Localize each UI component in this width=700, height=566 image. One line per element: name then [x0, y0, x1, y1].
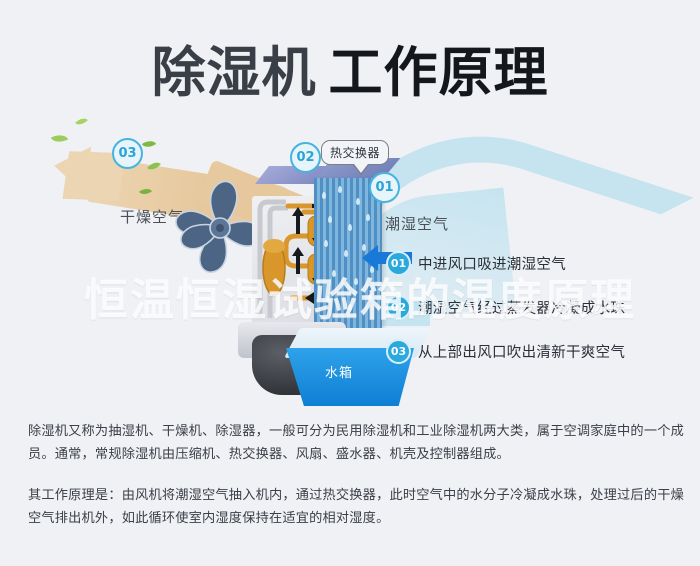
diagram-marker-02: 02 [290, 142, 321, 173]
paragraph-2: 其工作原理是：由风机将潮湿空气抽入机内，通过热交换器，此时空气中的水分子冷凝成水… [28, 484, 688, 530]
water-tank-label: 水箱 [325, 362, 353, 381]
step-text: 从上部出风口吹出清新干爽空气 [418, 341, 625, 362]
page-title: 除湿机工作原理 [0, 28, 700, 107]
page-title-part-2: 工作原理 [329, 41, 549, 104]
step-badge: 01 [388, 253, 409, 274]
step-list: 01 中进风口吸进潮湿空气 02 潮湿空气经过蒸发器冷凝成水珠 03 从上部出风… [388, 252, 688, 384]
leaf-icon [142, 137, 156, 150]
heat-exchanger-callout: 热交换器 [321, 140, 389, 165]
diagram-marker-01: 01 [369, 172, 400, 203]
page-title-part-1: 除湿机 [152, 41, 317, 104]
step-badge: 02 [388, 297, 409, 318]
list-item: 01 中进风口吸进潮湿空气 [388, 252, 688, 274]
step-text: 潮湿空气经过蒸发器冷凝成水珠 [418, 297, 625, 318]
body-copy: 除湿机又称为抽湿机、干燥机、除湿器，一般可分为民用除湿机和工业除湿机两大类，属于… [28, 420, 688, 548]
step-text: 中进风口吸进潮湿空气 [418, 253, 566, 274]
diagram-marker-03: 03 [112, 138, 143, 169]
list-item: 02 潮湿空气经过蒸发器冷凝成水珠 [388, 296, 688, 318]
leaf-icon [75, 115, 88, 128]
step-badge: 03 [388, 341, 409, 362]
paragraph-1: 除湿机又称为抽湿机、干燥机、除湿器，一般可分为民用除湿机和工业除湿机两大类，属于… [28, 420, 688, 466]
list-item: 03 从上部出风口吹出清新干爽空气 [388, 340, 688, 362]
infographic-page: 除湿机工作原理 干燥空气 潮湿空气 [0, 0, 700, 566]
dry-air-arrow-head [51, 142, 91, 194]
